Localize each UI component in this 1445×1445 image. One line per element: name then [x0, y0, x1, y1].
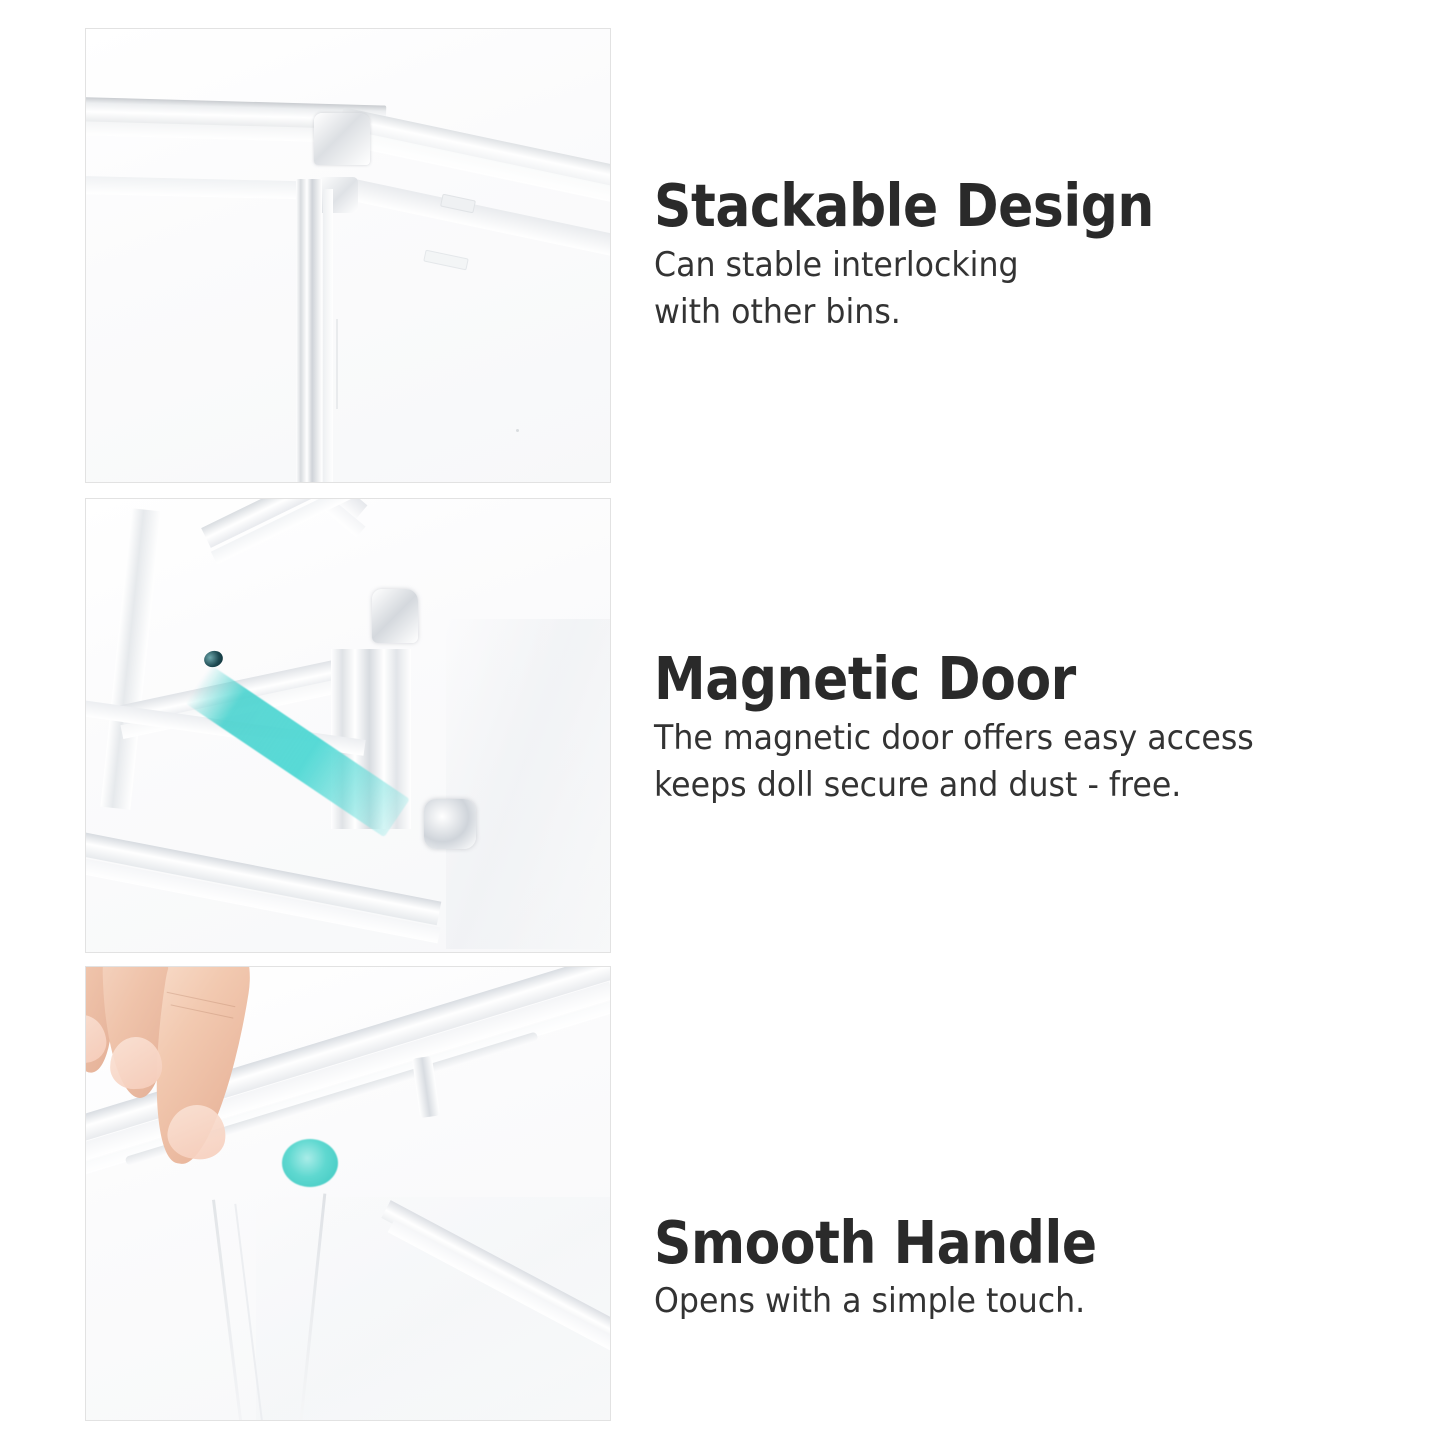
magnet-dot-icon [202, 648, 225, 669]
feature-row-smooth-handle: Smooth Handle Opens with a simple touch. [0, 963, 1445, 1423]
bin-magnet-catch-corner [424, 799, 476, 849]
feature-row-magnetic-door: Magnetic Door The magnetic door offers e… [0, 495, 1445, 955]
feature-title: Magnetic Door [654, 647, 1296, 711]
feature-description: Can stable interlocking with other bins. [654, 242, 1333, 336]
bin-left-post [100, 508, 161, 809]
feature-row-stackable-design: Stackable Design Can stable interlocking… [0, 25, 1445, 485]
bin-stacking-notch-lower [423, 249, 469, 270]
feature-description: Opens with a simple touch. [654, 1278, 1333, 1325]
feature-text-smooth-handle: Smooth Handle Opens with a simple touch. [654, 1211, 1384, 1326]
bin-top-corner-joint [372, 589, 418, 643]
bin-right-wall [446, 619, 611, 949]
feature-description: The magnetic door offers easy access kee… [654, 715, 1333, 809]
product-photo-stackable [86, 29, 610, 482]
feature-text-magnetic-door: Magnetic Door The magnetic door offers e… [654, 647, 1384, 809]
feature-image-stackable-design [85, 28, 611, 483]
bin-vertical-edge-inner [323, 189, 333, 483]
bin-seam-line [336, 319, 338, 409]
infographic-page: Stackable Design Can stable interlocking… [0, 0, 1445, 1445]
feature-title: Stackable Design [654, 174, 1296, 238]
product-photo-magnetic [86, 499, 610, 952]
feature-text-stackable-design: Stackable Design Can stable interlocking… [654, 174, 1384, 336]
bin-vertical-edge [296, 179, 322, 483]
bin-interlock-corner [314, 113, 370, 165]
product-photo-handle [86, 967, 610, 1420]
hand-pressing-handle [85, 966, 346, 1183]
feature-image-magnetic-door [85, 498, 611, 953]
feature-image-smooth-handle [85, 966, 611, 1421]
feature-title: Smooth Handle [654, 1211, 1296, 1275]
bin-surface-speck [516, 429, 519, 432]
